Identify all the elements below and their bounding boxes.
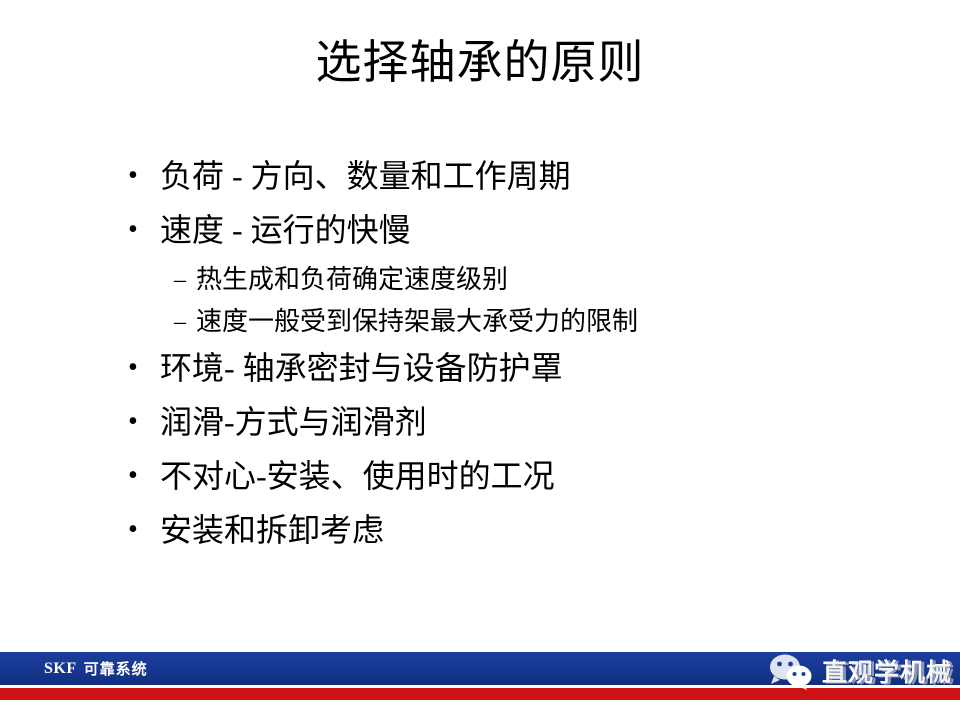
footer-brand: SKF 可靠系统 bbox=[44, 652, 148, 685]
sub-list-item-label: 速度一般受到保持架最大承受力的限制 bbox=[196, 302, 928, 342]
list-item: • 润滑-方式与润滑剂 bbox=[128, 398, 928, 446]
bullet-dot-icon: • bbox=[128, 344, 160, 392]
bullet-dot-icon: • bbox=[128, 398, 160, 446]
slide-canvas: 选择轴承的原则 • 负荷 - 方向、数量和工作周期 • 速度 - 运行的快慢 –… bbox=[0, 0, 960, 720]
bullet-dot-icon: • bbox=[128, 206, 160, 254]
list-item: • 不对心-安装、使用时的工况 bbox=[128, 452, 928, 500]
list-item: • 速度 - 运行的快慢 bbox=[128, 206, 928, 254]
wechat-icon bbox=[764, 651, 818, 691]
wechat-watermark: 直观学机械 直观学机械 bbox=[764, 648, 952, 694]
sub-list-item-label: 热生成和负荷确定速度级别 bbox=[196, 260, 928, 300]
bullet-list: • 负荷 - 方向、数量和工作周期 • 速度 - 运行的快慢 – 热生成和负荷确… bbox=[128, 152, 928, 560]
list-item-label: 润滑-方式与润滑剂 bbox=[160, 398, 928, 446]
wechat-watermark-text-shadow: 直观学机械 bbox=[825, 654, 955, 690]
list-item-label: 环境- 轴承密封与设备防护罩 bbox=[160, 344, 928, 392]
sub-list-item: – 速度一般受到保持架最大承受力的限制 bbox=[128, 302, 928, 342]
slide-footer: SKF 可靠系统 bbox=[0, 652, 960, 700]
sub-list-item: – 热生成和负荷确定速度级别 bbox=[128, 260, 928, 300]
wechat-watermark-text-wrap: 直观学机械 直观学机械 bbox=[822, 653, 952, 689]
list-item-label: 负荷 - 方向、数量和工作周期 bbox=[160, 152, 928, 200]
bullet-dash-icon: – bbox=[174, 302, 196, 342]
list-item-label: 安装和拆卸考虑 bbox=[160, 506, 928, 554]
footer-brand-cn-label: 可靠系统 bbox=[84, 658, 148, 679]
list-item-label: 速度 - 运行的快慢 bbox=[160, 206, 928, 254]
list-item: • 安装和拆卸考虑 bbox=[128, 506, 928, 554]
bullet-dot-icon: • bbox=[128, 506, 160, 554]
bullet-dot-icon: • bbox=[128, 452, 160, 500]
list-item-label: 不对心-安装、使用时的工况 bbox=[160, 452, 928, 500]
bullet-dash-icon: – bbox=[174, 260, 196, 300]
footer-brand-skf-label: SKF bbox=[44, 660, 77, 678]
bullet-dot-icon: • bbox=[128, 152, 160, 200]
page-title: 选择轴承的原则 bbox=[0, 34, 960, 92]
list-item: • 负荷 - 方向、数量和工作周期 bbox=[128, 152, 928, 200]
list-item: • 环境- 轴承密封与设备防护罩 bbox=[128, 344, 928, 392]
